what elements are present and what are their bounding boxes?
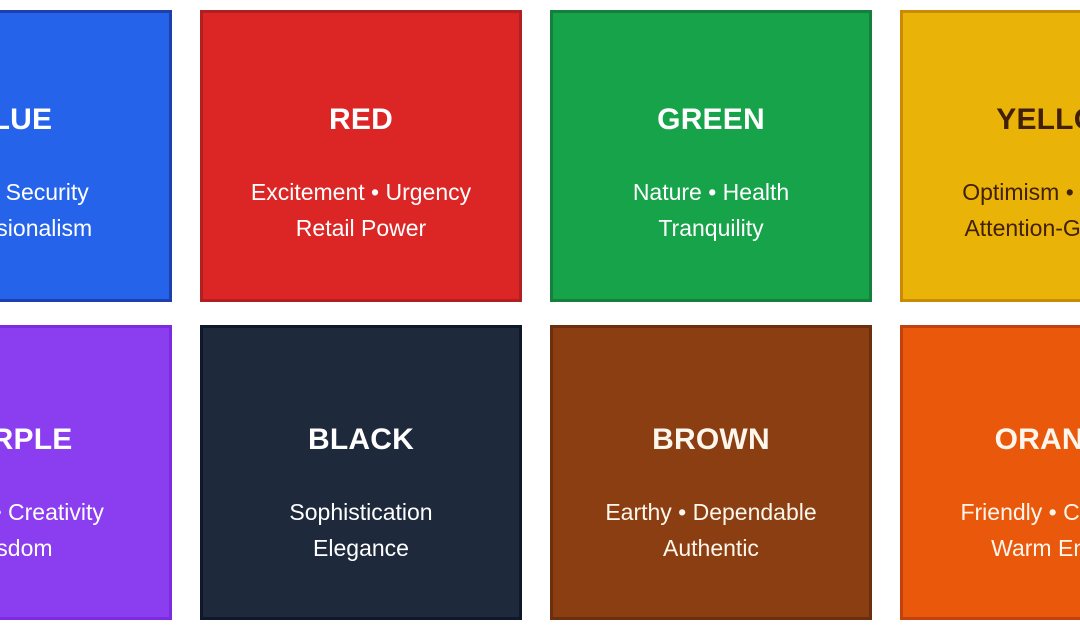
color-card-traits: Friendly • Confident Warm Energy xyxy=(960,494,1080,567)
color-card-traits: Nature • Health Tranquility xyxy=(633,174,789,247)
color-card-purple[interactable]: PURPLE Luxury • Creativity Wisdom xyxy=(0,325,172,620)
color-card-title: RED xyxy=(329,103,393,136)
color-card-traits-line-1: Sophistication xyxy=(289,499,432,525)
color-card-traits-line-1: Nature • Health xyxy=(633,179,789,205)
color-card-title: BLACK xyxy=(308,423,414,456)
color-card-traits-line-2: Tranquility xyxy=(633,210,789,246)
color-card-traits-line-2: Elegance xyxy=(289,530,432,566)
color-card-traits: Sophistication Elegance xyxy=(289,494,432,567)
color-card-grid: BLUE Trust • Security Professionalism RE… xyxy=(0,10,1080,620)
color-card-title: PURPLE xyxy=(0,423,72,456)
color-card-title: BLUE xyxy=(0,103,52,136)
color-card-traits: Optimism • Warmth Attention-Grabbing xyxy=(962,174,1080,247)
color-card-traits: Excitement • Urgency Retail Power xyxy=(251,174,471,247)
color-card-traits: Earthy • Dependable Authentic xyxy=(605,494,816,567)
color-card-traits-line-1: Optimism • Warmth xyxy=(962,179,1080,205)
color-card-black[interactable]: BLACK Sophistication Elegance xyxy=(200,325,522,620)
color-card-brown[interactable]: BROWN Earthy • Dependable Authentic xyxy=(550,325,872,620)
color-card-traits-line-2: Authentic xyxy=(605,530,816,566)
color-card-green[interactable]: GREEN Nature • Health Tranquility xyxy=(550,10,872,302)
color-card-yellow[interactable]: YELLOW Optimism • Warmth Attention-Grabb… xyxy=(900,10,1080,302)
color-grid-viewport: BLUE Trust • Security Professionalism RE… xyxy=(0,0,1080,632)
color-card-traits-line-2: Retail Power xyxy=(251,210,471,246)
color-card-traits-line-2: Wisdom xyxy=(0,530,104,566)
color-card-blue[interactable]: BLUE Trust • Security Professionalism xyxy=(0,10,172,302)
color-card-traits: Trust • Security Professionalism xyxy=(0,174,92,247)
color-card-title: YELLOW xyxy=(996,103,1080,136)
color-card-traits: Luxury • Creativity Wisdom xyxy=(0,494,104,567)
color-card-title: BROWN xyxy=(652,423,770,456)
color-card-traits-line-2: Warm Energy xyxy=(960,530,1080,566)
color-card-title: ORANGE xyxy=(995,423,1080,456)
color-card-traits-line-1: Excitement • Urgency xyxy=(251,179,471,205)
color-card-traits-line-2: Attention-Grabbing xyxy=(962,210,1080,246)
color-card-orange[interactable]: ORANGE Friendly • Confident Warm Energy xyxy=(900,325,1080,620)
color-card-traits-line-1: Luxury • Creativity xyxy=(0,499,104,525)
color-card-red[interactable]: RED Excitement • Urgency Retail Power xyxy=(200,10,522,302)
color-card-traits-line-2: Professionalism xyxy=(0,210,92,246)
color-card-traits-line-1: Friendly • Confident xyxy=(960,499,1080,525)
color-card-traits-line-1: Earthy • Dependable xyxy=(605,499,816,525)
color-card-title: GREEN xyxy=(657,103,765,136)
color-card-traits-line-1: Trust • Security xyxy=(0,179,89,205)
